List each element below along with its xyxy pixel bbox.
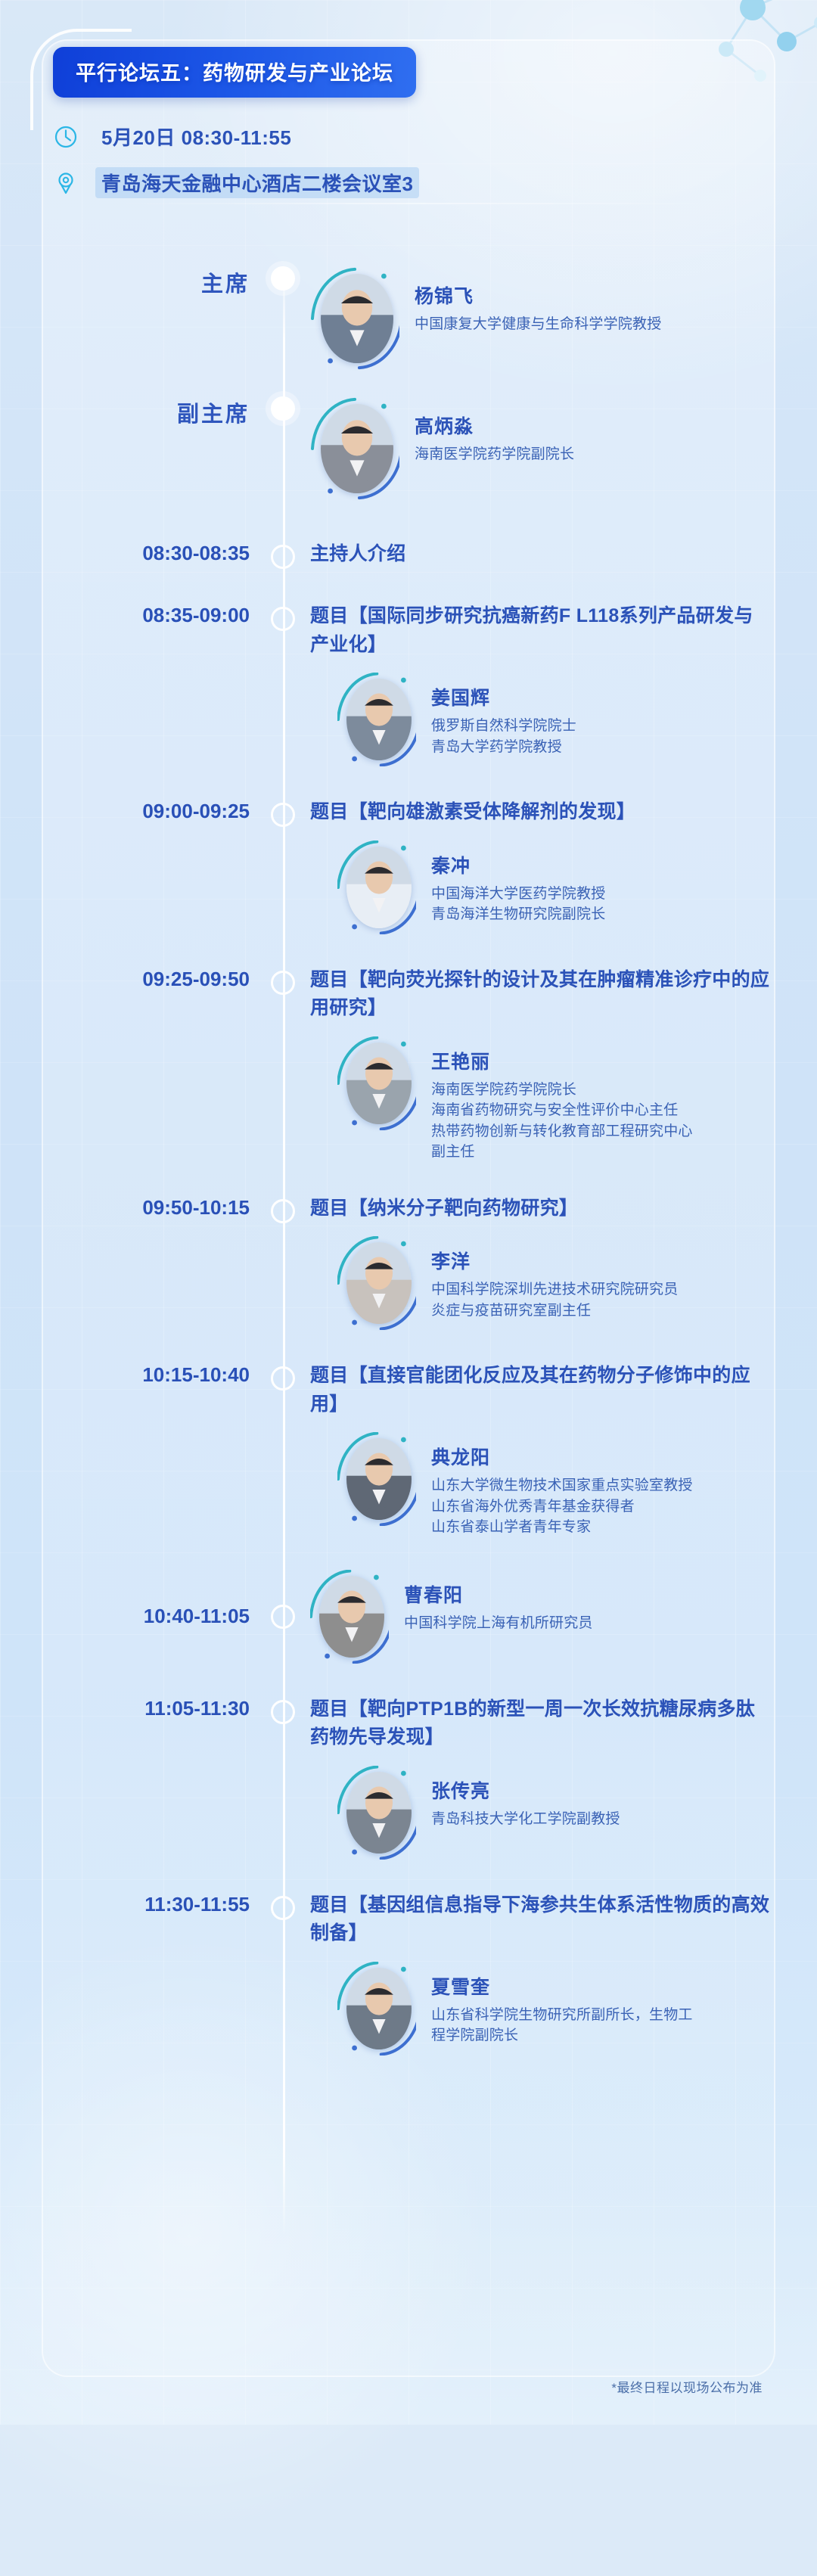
avatar-ring-decoration <box>310 266 399 371</box>
speaker-text: 李洋 中国科学院深圳先进技术研究院研究员炎症与疫苗研究室副主任 <box>431 1236 678 1321</box>
agenda-time: 08:35-09:00 <box>0 604 250 627</box>
agenda-time-cell: 09:25-09:50 <box>0 966 266 991</box>
chair-detail-cell: 高炳淼 海南医学院药学院副院长 <box>300 396 817 501</box>
avatar <box>337 1236 416 1330</box>
speaker-text: 夏雪奎 山东省科学院生物研究所副所长，生物工程学院副院长 <box>431 1962 693 2046</box>
timeline-node-cell <box>266 1605 300 1629</box>
agenda-topic: 题目【纳米分子靶向药物研究】 <box>310 1195 772 1223</box>
speaker-name: 张传亮 <box>431 1776 620 1804</box>
agenda-time: 11:30-11:55 <box>0 1893 250 1916</box>
timeline-node-cell <box>266 966 300 995</box>
timeline-node-cell <box>266 396 300 421</box>
agenda-detail-cell: 题目【纳米分子靶向药物研究】 李洋 中国科学院深圳先进技术研究院研究员炎症与 <box>300 1195 817 1331</box>
timeline-node[interactable] <box>271 1700 295 1724</box>
agenda-row: 10:40-11:05 曹春 <box>0 1570 817 1664</box>
speaker-text: 曹春阳 中国科学院上海有机所研究员 <box>404 1570 593 1634</box>
speaker-affiliation: 中国科学院深圳先进技术研究院研究员炎症与疫苗研究室副主任 <box>431 1279 678 1321</box>
speaker-block: 秦冲 中国海洋大学医药学院教授青岛海洋生物研究院副院长 <box>337 841 772 934</box>
timeline-node-cell <box>266 798 300 827</box>
speaker-text: 张传亮 青岛科技大学化工学院副教授 <box>431 1766 620 1830</box>
forum-meta: 5月20日 08:30-11:55 青岛海天金融中心酒店二楼会议室3 <box>53 121 688 213</box>
speaker-block: 姜国辉 俄罗斯自然科学院院士青岛大学药学院教授 <box>337 673 772 766</box>
timeline-node[interactable] <box>271 1199 295 1223</box>
avatar <box>337 1962 416 2056</box>
clock-icon <box>53 124 79 150</box>
timeline-node-cell <box>266 266 300 291</box>
timeline-node-cell <box>266 1891 300 1920</box>
avatar-ring-decoration <box>337 1962 416 2056</box>
speaker-affiliation: 海南医学院药学院院长海南省药物研究与安全性评价中心主任热带药物创新与转化教育部工… <box>431 1080 693 1163</box>
speaker-block: 张传亮 青岛科技大学化工学院副教授 <box>337 1766 772 1860</box>
agenda-time-cell: 09:00-09:25 <box>0 798 266 823</box>
location-pin-icon <box>53 170 79 196</box>
agenda-topic: 题目【国际同步研究抗癌新药F L118系列产品研发与产业化】 <box>310 602 772 659</box>
speaker-text: 秦冲 中国海洋大学医药学院教授青岛海洋生物研究院副院长 <box>431 841 605 925</box>
avatar <box>337 841 416 934</box>
agenda-time-cell: 11:30-11:55 <box>0 1891 266 1916</box>
agenda-time-cell: 09:50-10:15 <box>0 1195 266 1220</box>
agenda-time: 09:00-09:25 <box>0 800 250 823</box>
chair-role-label: 主席 <box>0 266 250 298</box>
speaker-name: 杨锦飞 <box>415 281 661 309</box>
timeline-node-cell <box>266 1362 300 1391</box>
timeline-node-cell <box>266 540 300 569</box>
timeline-node[interactable] <box>271 396 295 421</box>
timeline-node[interactable] <box>271 545 295 569</box>
speaker-affiliation: 山东省科学院生物研究所副所长，生物工程学院副院长 <box>431 2005 693 2046</box>
agenda-row: 08:30-08:35 主持人介绍 <box>0 540 817 570</box>
timeline-node[interactable] <box>271 971 295 995</box>
timeline-node-cell <box>266 1695 300 1724</box>
agenda-time: 08:30-08:35 <box>0 542 250 565</box>
speaker-affiliation: 中国海洋大学医药学院教授青岛海洋生物研究院副院长 <box>431 884 605 925</box>
agenda-topic: 题目【基因组信息指导下海参共生体系活性物质的高效制备】 <box>310 1891 772 1948</box>
avatar <box>310 1570 389 1664</box>
speaker-block: 典龙阳 山东大学微生物技术国家重点实验室教授山东省海外优秀青年基金获得者山东省泰… <box>337 1432 772 1538</box>
agenda-row: 08:35-09:00 题目【国际同步研究抗癌新药F L118系列产品研发与产业… <box>0 602 817 766</box>
avatar <box>337 1432 416 1526</box>
avatar-ring-decoration <box>337 841 416 934</box>
speaker-affiliation: 中国科学院上海有机所研究员 <box>404 1613 593 1634</box>
speaker-affiliation: 中国康复大学健康与生命科学学院教授 <box>415 314 661 335</box>
timeline-node[interactable] <box>271 1366 295 1391</box>
speaker-affiliation: 海南医学院药学院副院长 <box>415 444 574 465</box>
timeline-node-cell <box>266 1195 300 1223</box>
speaker-text: 姜国辉 俄罗斯自然科学院院士青岛大学药学院教授 <box>431 673 576 757</box>
timeline-node[interactable] <box>271 266 295 291</box>
agenda-detail-cell: 题目【国际同步研究抗癌新药F L118系列产品研发与产业化】 姜国辉 俄罗斯 <box>300 602 817 766</box>
avatar <box>310 396 399 501</box>
agenda-list: 主席 杨锦飞 中国康复大学健康与生命 <box>0 250 817 2087</box>
agenda-detail-cell: 题目【靶向荧光探针的设计及其在肿瘤精准诊疗中的应用研究】 王艳丽 海南医学院 <box>300 966 817 1163</box>
avatar-ring-decoration <box>337 1036 416 1130</box>
timeline-node[interactable] <box>271 1896 295 1920</box>
agenda-time: 09:50-10:15 <box>0 1196 250 1220</box>
meta-row-datetime: 5月20日 08:30-11:55 <box>53 121 688 152</box>
agenda-time-cell: 10:15-10:40 <box>0 1362 266 1387</box>
chair-role-label: 副主席 <box>0 396 250 428</box>
agenda-detail-cell: 题目【靶向PTP1B的新型一周一次长效抗糖尿病多肽药物先导发现】 张传亮 青 <box>300 1695 817 1860</box>
speaker-affiliation: 青岛科技大学化工学院副教授 <box>431 1809 620 1830</box>
meta-row-location: 青岛海天金融中心酒店二楼会议室3 <box>53 167 688 198</box>
speaker-block: 高炳淼 海南医学院药学院副院长 <box>310 396 772 501</box>
avatar-ring-decoration <box>310 1570 389 1664</box>
speaker-affiliation: 山东大学微生物技术国家重点实验室教授山东省海外优秀青年基金获得者山东省泰山学者青… <box>431 1475 693 1538</box>
agenda-time: 10:15-10:40 <box>0 1363 250 1387</box>
agenda-time-cell: 08:30-08:35 <box>0 540 266 565</box>
speaker-name: 王艳丽 <box>431 1047 693 1074</box>
page-title: 平行论坛五：药物研发与产业论坛 <box>76 62 393 85</box>
agenda-time: 09:25-09:50 <box>0 968 250 991</box>
agenda-row: 11:30-11:55 题目【基因组信息指导下海参共生体系活性物质的高效制备】 <box>0 1891 817 2056</box>
speaker-block: 曹春阳 中国科学院上海有机所研究员 <box>310 1570 772 1664</box>
speaker-name: 李洋 <box>431 1247 678 1274</box>
timeline-node[interactable] <box>271 1605 295 1629</box>
speaker-text: 王艳丽 海南医学院药学院院长海南省药物研究与安全性评价中心主任热带药物创新与转化… <box>431 1036 693 1163</box>
agenda-row: 10:15-10:40 题目【直接官能团化反应及其在药物分子修饰中的应用】 <box>0 1362 817 1538</box>
agenda-topic: 题目【靶向雄激素受体降解剂的发现】 <box>310 798 772 827</box>
agenda-detail-cell: 题目【基因组信息指导下海参共生体系活性物质的高效制备】 夏雪奎 山东省科学院 <box>300 1891 817 2056</box>
chair-role-cell: 主席 <box>0 266 266 298</box>
agenda-row: 09:50-10:15 题目【纳米分子靶向药物研究】 <box>0 1195 817 1331</box>
chair-role-cell: 副主席 <box>0 396 266 428</box>
forum-title-banner: 平行论坛五：药物研发与产业论坛 <box>53 47 416 98</box>
speaker-name: 姜国辉 <box>431 683 576 710</box>
agenda-row: 09:00-09:25 题目【靶向雄激素受体降解剂的发现】 <box>0 798 817 934</box>
avatar <box>337 1036 416 1130</box>
timeline-node[interactable] <box>271 607 295 631</box>
speaker-text: 典龙阳 山东大学微生物技术国家重点实验室教授山东省海外优秀青年基金获得者山东省泰… <box>431 1432 693 1538</box>
speaker-block: 王艳丽 海南医学院药学院院长海南省药物研究与安全性评价中心主任热带药物创新与转化… <box>337 1036 772 1163</box>
speaker-name: 夏雪奎 <box>431 1972 693 2000</box>
speaker-name: 秦冲 <box>431 851 605 878</box>
avatar-ring-decoration <box>337 1432 416 1526</box>
avatar-ring-decoration <box>337 1766 416 1860</box>
speaker-text: 杨锦飞 中国康复大学健康与生命科学学院教授 <box>415 266 661 335</box>
agenda-detail-cell: 主持人介绍 <box>300 540 817 569</box>
speaker-text: 高炳淼 海南医学院药学院副院长 <box>415 396 574 465</box>
agenda-time-cell: 11:05-11:30 <box>0 1695 266 1720</box>
avatar <box>310 266 399 371</box>
agenda-detail-cell: 题目【直接官能团化反应及其在药物分子修饰中的应用】 典龙阳 山东大学微生物技 <box>300 1362 817 1538</box>
agenda-time-cell: 10:40-11:05 <box>0 1605 266 1628</box>
speaker-block: 夏雪奎 山东省科学院生物研究所副所长，生物工程学院副院长 <box>337 1962 772 2056</box>
agenda-topic: 题目【靶向荧光探针的设计及其在肿瘤精准诊疗中的应用研究】 <box>310 966 772 1023</box>
speaker-name: 高炳淼 <box>415 412 574 439</box>
agenda-row: 11:05-11:30 题目【靶向PTP1B的新型一周一次长效抗糖尿病多肽药物先… <box>0 1695 817 1860</box>
avatar-ring-decoration <box>337 1236 416 1330</box>
agenda-time: 11:05-11:30 <box>0 1697 250 1720</box>
timeline-node[interactable] <box>271 803 295 827</box>
forum-location: 青岛海天金融中心酒店二楼会议室3 <box>95 167 419 198</box>
agenda-topic: 主持人介绍 <box>310 540 772 569</box>
agenda-detail-cell: 曹春阳 中国科学院上海有机所研究员 <box>300 1570 817 1664</box>
footer-note: *最终日程以现场公布为准 <box>611 2377 763 2396</box>
avatar-ring-decoration <box>337 673 416 766</box>
chair-detail-cell: 杨锦飞 中国康复大学健康与生命科学学院教授 <box>300 266 817 371</box>
agenda-time: 10:40-11:05 <box>0 1605 250 1628</box>
agenda-topic: 题目【靶向PTP1B的新型一周一次长效抗糖尿病多肽药物先导发现】 <box>310 1695 772 1752</box>
chair-row: 副主席 高炳淼 海南医学院药学院副院 <box>0 396 817 501</box>
avatar <box>337 673 416 766</box>
avatar-ring-decoration <box>310 396 399 501</box>
avatar <box>337 1766 416 1860</box>
speaker-name: 典龙阳 <box>431 1443 693 1470</box>
chair-row: 主席 杨锦飞 中国康复大学健康与生命 <box>0 266 817 371</box>
agenda-detail-cell: 题目【靶向雄激素受体降解剂的发现】 秦冲 中国海洋大学医药学院教授青岛海洋生 <box>300 798 817 934</box>
speaker-block: 杨锦飞 中国康复大学健康与生命科学学院教授 <box>310 266 772 371</box>
forum-datetime: 5月20日 08:30-11:55 <box>95 121 297 152</box>
speaker-affiliation: 俄罗斯自然科学院院士青岛大学药学院教授 <box>431 716 576 757</box>
agenda-time-cell: 08:35-09:00 <box>0 602 266 627</box>
speaker-block: 李洋 中国科学院深圳先进技术研究院研究员炎症与疫苗研究室副主任 <box>337 1236 772 1330</box>
speaker-name: 曹春阳 <box>404 1580 593 1608</box>
timeline-node-cell <box>266 602 300 631</box>
agenda-row: 09:25-09:50 题目【靶向荧光探针的设计及其在肿瘤精准诊疗中的应用研究】 <box>0 966 817 1163</box>
agenda-topic: 题目【直接官能团化反应及其在药物分子修饰中的应用】 <box>310 1362 772 1419</box>
